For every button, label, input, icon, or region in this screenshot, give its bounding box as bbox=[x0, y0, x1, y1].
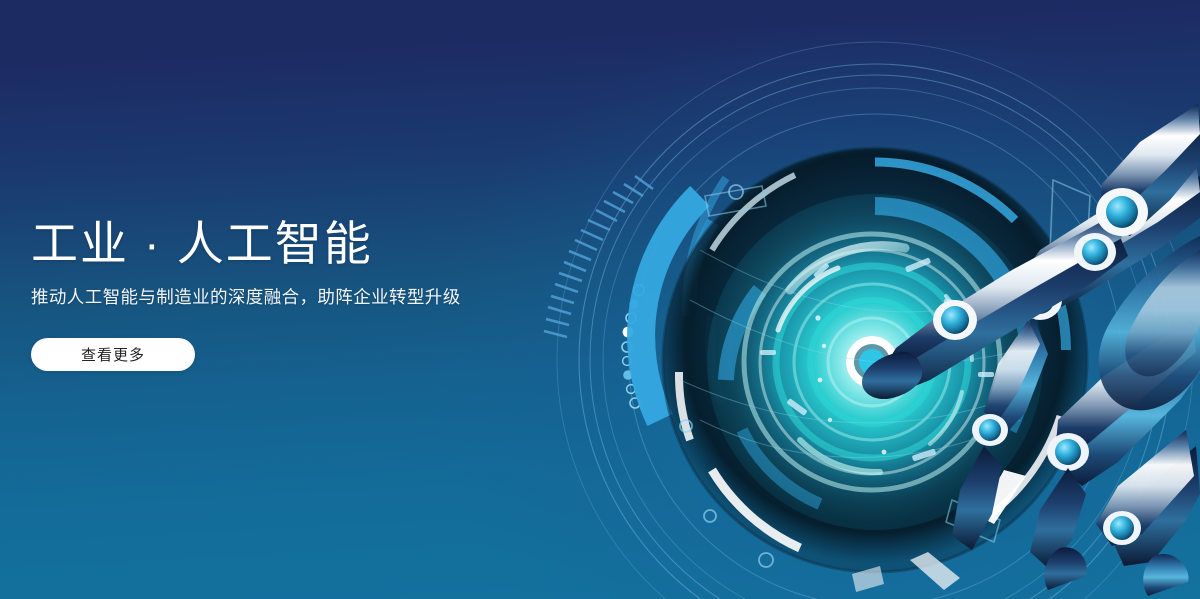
hud-core-glow bbox=[730, 220, 1014, 504]
hud-small-markers bbox=[760, 257, 994, 461]
hud-dark-disc bbox=[663, 148, 1087, 572]
hud-wireframe-boxes bbox=[705, 180, 1090, 542]
robot-finger-thumb bbox=[1096, 104, 1200, 236]
hero-subtitle: 推动人工智能与制造业的深度融合，助阵企业转型升级 bbox=[31, 285, 591, 310]
hud-dot-column bbox=[622, 285, 644, 408]
robotic-hand bbox=[862, 104, 1200, 596]
hud-micro-dots bbox=[815, 315, 940, 454]
robot-finger-pinky bbox=[1096, 430, 1200, 566]
robot-finger-ring bbox=[1030, 318, 1200, 568]
hud-outline-circles bbox=[680, 185, 773, 567]
hud-core-rings bbox=[744, 234, 1000, 490]
hud-outer-rings bbox=[557, 42, 1193, 599]
robot-finger-index bbox=[862, 216, 1128, 399]
robot-palm bbox=[1099, 236, 1200, 410]
hud-touch-point bbox=[846, 336, 898, 388]
hud-left-arcs bbox=[641, 178, 726, 420]
hud-spiral-lines bbox=[680, 250, 1030, 458]
hud-blue-band bbox=[726, 206, 1027, 504]
view-more-button[interactable]: 查看更多 bbox=[31, 338, 195, 371]
page-title: 工业 · 人工智能 bbox=[31, 216, 591, 271]
robot-finger-middle bbox=[952, 160, 1200, 550]
hud-ring-segments bbox=[679, 162, 1066, 548]
hud-core-arc-highlights bbox=[778, 246, 972, 472]
hud-white-shards bbox=[852, 470, 1026, 592]
hud-inner-disc bbox=[707, 194, 1043, 530]
hero-banner: 工业 · 人工智能 推动人工智能与制造业的深度融合，助阵企业转型升级 查看更多 bbox=[0, 0, 1200, 599]
hero-copy-block: 工业 · 人工智能 推动人工智能与制造业的深度融合，助阵企业转型升级 查看更多 bbox=[31, 216, 591, 371]
robot-fingertip-fragments bbox=[1044, 547, 1188, 596]
